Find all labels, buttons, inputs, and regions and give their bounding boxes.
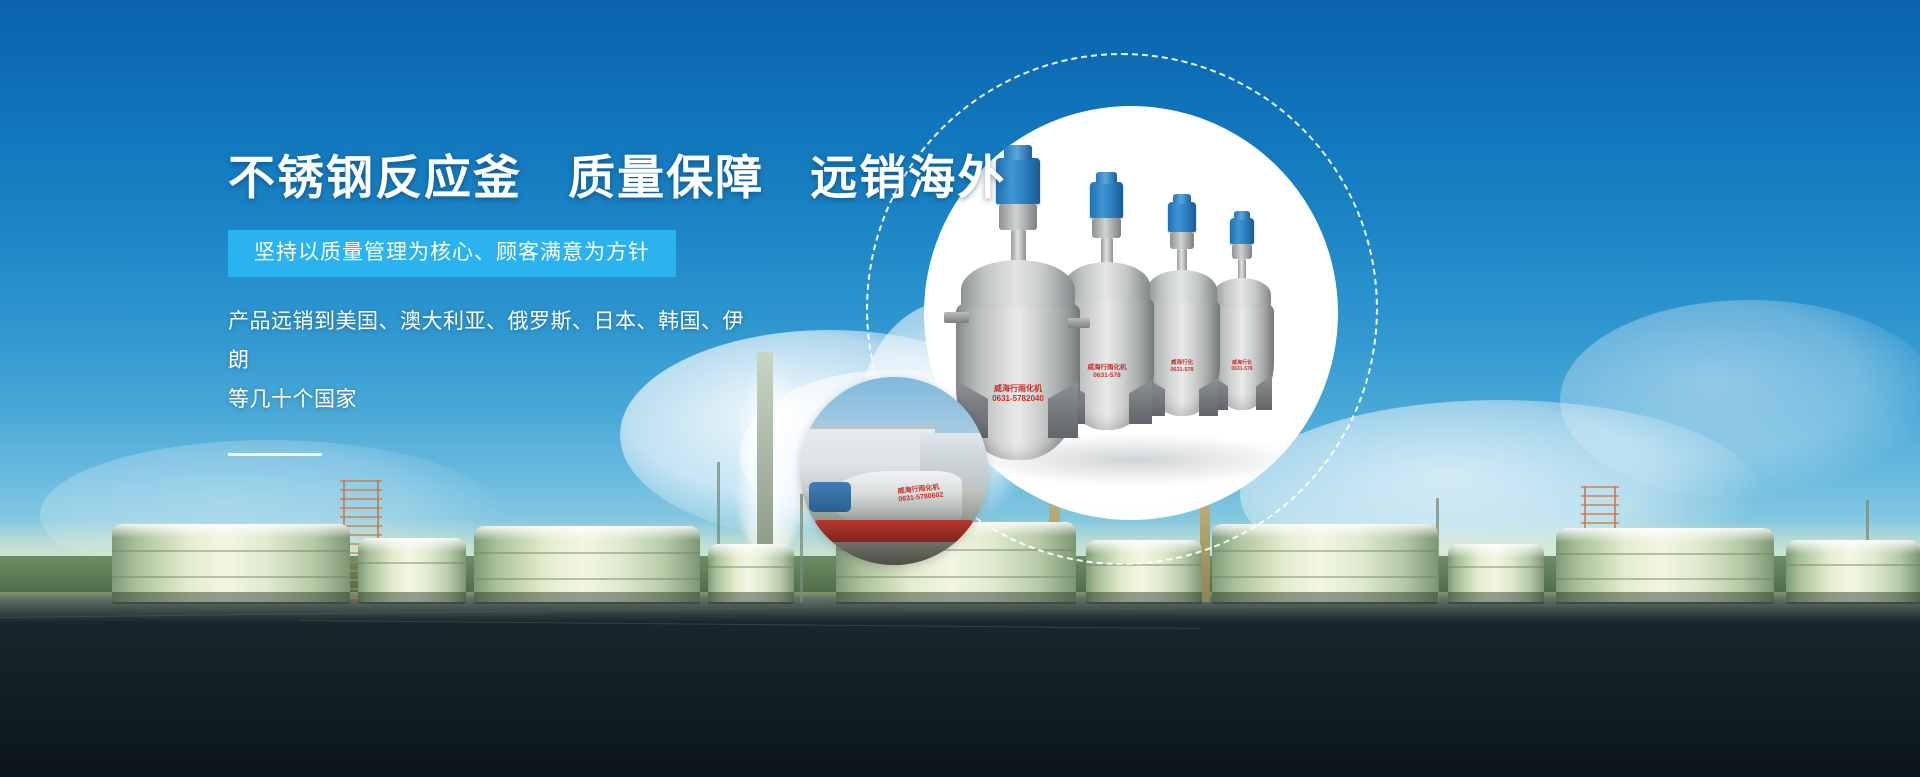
gearbox xyxy=(1170,232,1194,249)
storage-tank xyxy=(1786,540,1920,602)
agitator-motor xyxy=(1230,218,1254,244)
motor-cap xyxy=(1096,172,1117,184)
agitator-motor xyxy=(1168,202,1196,232)
gearbox xyxy=(999,204,1037,230)
photo-ground xyxy=(800,542,988,565)
storage-tank xyxy=(112,524,350,602)
decorative-rule xyxy=(228,453,322,456)
storage-tank xyxy=(358,538,466,602)
headline-part-3: 远销海外 xyxy=(810,151,1006,204)
storage-tank xyxy=(1556,528,1774,602)
agitator-motor xyxy=(1090,182,1123,218)
banner-headline: 不锈钢反应釜 质量保障 远销海外 xyxy=(228,152,868,204)
promo-banner: 威海行化 0631-578 威海行化 0631-578 xyxy=(0,0,1920,777)
transport-truck xyxy=(815,520,973,544)
motor-cap xyxy=(1173,194,1191,204)
vessel-label: 威海行化 0631-578 xyxy=(1214,360,1270,373)
storage-tank xyxy=(708,544,794,602)
storage-tank xyxy=(474,526,700,602)
motor-cap xyxy=(1004,145,1032,160)
side-nozzle xyxy=(1068,318,1090,328)
drive-shaft xyxy=(1011,230,1026,264)
headline-part-2: 质量保障 xyxy=(568,151,764,204)
headline-part-1: 不锈钢反应釜 xyxy=(228,151,522,204)
motor-cap xyxy=(1234,211,1250,220)
banner-subtitle-bar: 坚持以质量管理为核心、顾客满意为方针 xyxy=(228,230,676,277)
description-line: 等几十个国家 xyxy=(228,388,357,411)
description-line: 产品远销到美国、澳大利亚、俄罗斯、日本、韩国、伊朗 xyxy=(228,310,744,372)
water xyxy=(0,596,1920,777)
cloud-decor xyxy=(1560,300,1920,500)
banner-description: 产品远销到美国、澳大利亚、俄罗斯、日本、韩国、伊朗 等几十个国家 xyxy=(228,303,748,420)
vessel-label-line: 0631-578 xyxy=(1150,367,1214,374)
vessel-label: 威海行化 0631-578 xyxy=(1150,360,1214,374)
side-nozzle xyxy=(944,312,969,323)
vessel-label-line: 威海行化 xyxy=(1150,360,1214,367)
storage-tank xyxy=(1212,524,1438,602)
gearbox xyxy=(1232,244,1252,259)
storage-tank xyxy=(1448,544,1544,602)
agitator-motor xyxy=(809,482,850,512)
reactor-vessel: 威海行化 0631-578 xyxy=(1144,202,1220,434)
vessel-label-line: 0631-578 xyxy=(1214,366,1270,372)
banner-copy: 不锈钢反应釜 质量保障 远销海外 坚持以质量管理为核心、顾客满意为方针 产品远销… xyxy=(228,152,868,456)
gearbox xyxy=(1092,218,1121,238)
